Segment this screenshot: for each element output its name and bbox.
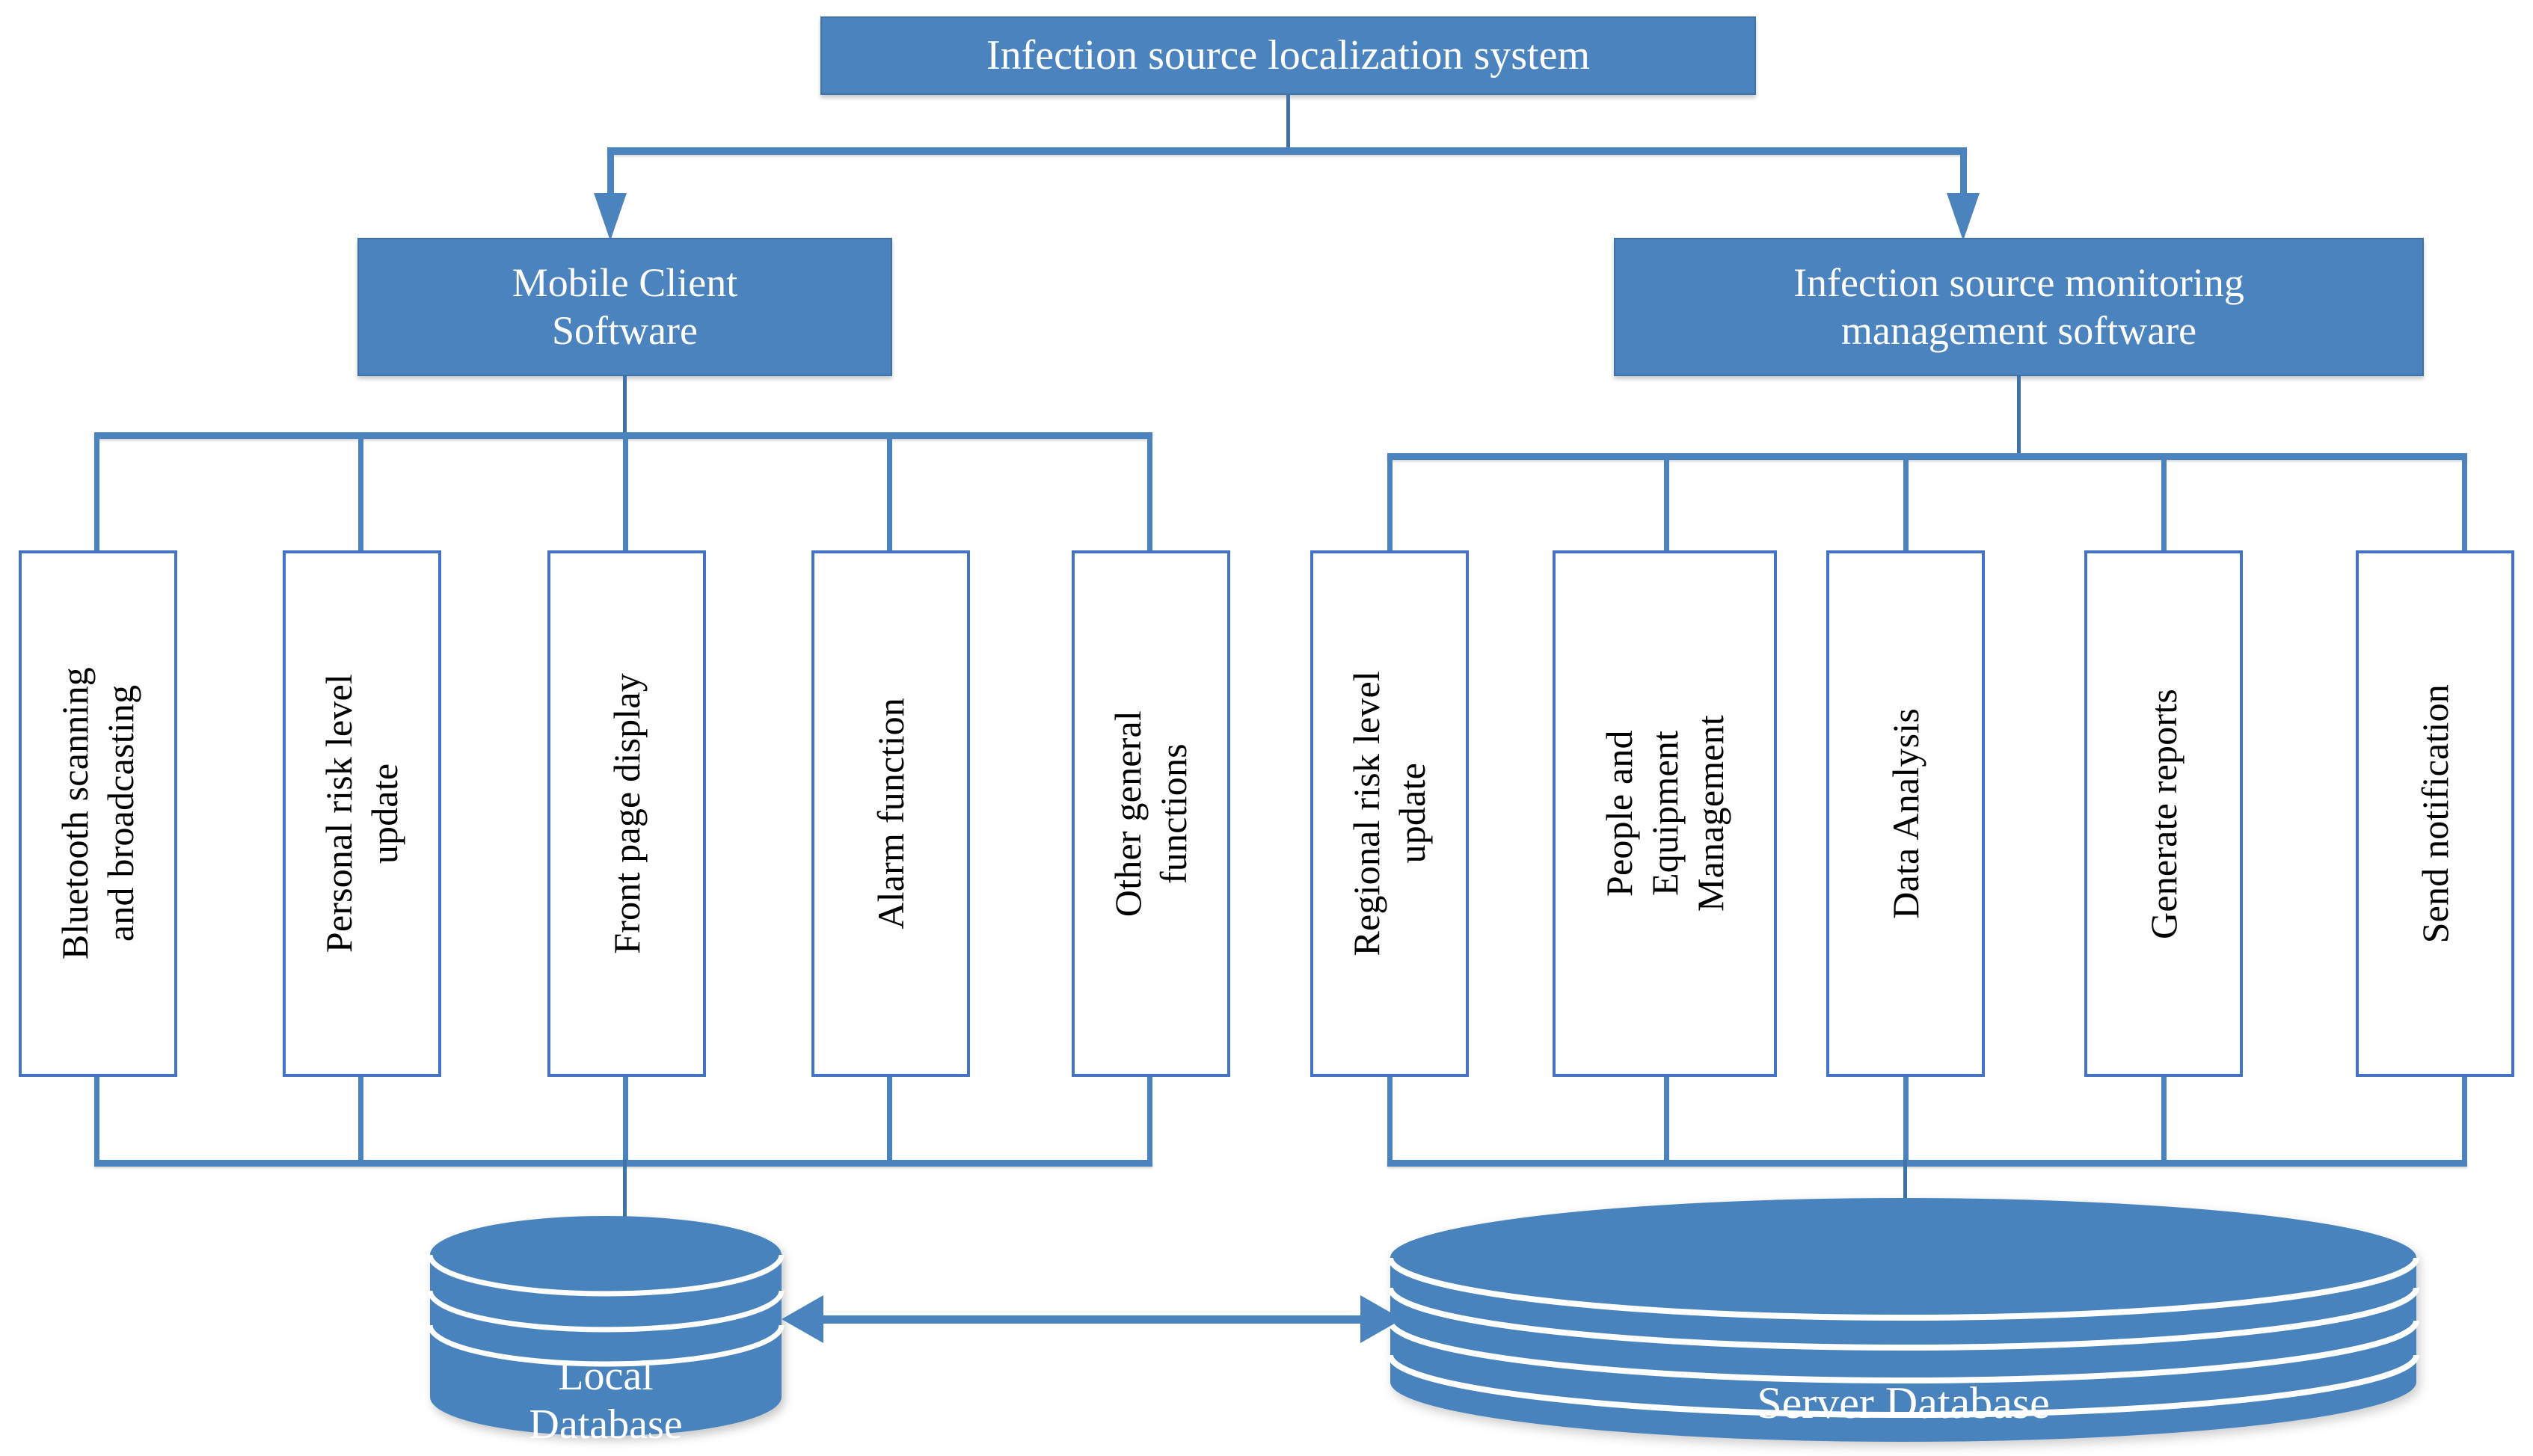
- connector-client-merge-up-2: [358, 1077, 363, 1165]
- node-mobile-client-software-label: Mobile Client Software: [503, 259, 746, 354]
- arrow-down-icon-to-monitoring-software: [1947, 193, 1980, 241]
- node-regional-risk-level-update-label: Regional risk level update: [1344, 671, 1435, 956]
- node-other-general-functions[interactable]: Other general functions: [1072, 550, 1230, 1077]
- node-mobile-client-software[interactable]: Mobile Client Software: [357, 238, 892, 376]
- connector-root-stem: [1286, 95, 1290, 151]
- arrow-head-right-icon: [1360, 1295, 1402, 1343]
- node-people-equipment-management[interactable]: People and Equipment Management: [1553, 550, 1777, 1077]
- connector-server-merge-up-5: [2462, 1077, 2467, 1165]
- node-generate-reports-label: Generate reports: [2141, 689, 2187, 939]
- connector-client-stem: [623, 376, 627, 437]
- node-data-analysis-label: Data Analysis: [1883, 708, 1929, 919]
- diagram-canvas: Infection source localization system Mob…: [0, 0, 2533, 1456]
- connector-server-stem: [2017, 376, 2021, 458]
- connector-client-drop-1: [94, 432, 99, 553]
- node-root-system-label: Infection source localization system: [977, 31, 1599, 80]
- double-arrow-horizontal-icon-db-sync: [782, 1295, 1402, 1343]
- node-send-notification-label: Send notification: [2413, 684, 2458, 943]
- connector-server-merge-up-4: [2161, 1077, 2167, 1165]
- connector-root-bar: [607, 147, 1967, 155]
- node-front-page-display[interactable]: Front page display: [547, 550, 706, 1077]
- cylinder-shape-local-database: [419, 1211, 793, 1436]
- connector-server-merge-up-2: [1664, 1077, 1669, 1165]
- connector-server-drop-5: [2462, 453, 2467, 553]
- connector-client-drop-3: [623, 432, 628, 553]
- connector-server-drop-4: [2161, 453, 2167, 553]
- connector-server-drop-2: [1664, 453, 1669, 553]
- connector-client-drop-2: [358, 432, 363, 553]
- node-alarm-function[interactable]: Alarm function: [811, 550, 970, 1077]
- node-personal-risk-level-update[interactable]: Personal risk level update: [283, 550, 441, 1077]
- node-monitoring-management-software[interactable]: Infection source monitoring management s…: [1614, 238, 2424, 376]
- arrow-shaft: [820, 1315, 1363, 1324]
- node-server-database[interactable]: Server Database: [1380, 1197, 2427, 1443]
- connector-client-drop-5: [1147, 432, 1152, 553]
- node-people-equipment-management-label: People and Equipment Management: [1597, 715, 1734, 912]
- node-monitoring-management-software-label: Infection source monitoring management s…: [1784, 259, 2253, 354]
- connector-server-drop-3: [1903, 453, 1909, 553]
- connector-server-drop-1: [1387, 453, 1393, 553]
- node-bluetooth-scanning-broadcasting[interactable]: Bluetooth scanning and broadcasting: [19, 550, 177, 1077]
- connector-client-merge-up-4: [887, 1077, 892, 1165]
- node-alarm-function-label: Alarm function: [868, 698, 914, 930]
- connector-server-merge-bus: [1387, 1160, 2467, 1167]
- connector-server-merge-up-3: [1903, 1077, 1909, 1165]
- node-regional-risk-level-update[interactable]: Regional risk level update: [1310, 550, 1469, 1077]
- node-front-page-display-label: Front page display: [604, 673, 650, 954]
- connector-server-merge-up-1: [1387, 1077, 1393, 1165]
- connector-server-bus: [1387, 453, 2467, 460]
- node-send-notification[interactable]: Send notification: [2356, 550, 2514, 1077]
- node-root-system[interactable]: Infection source localization system: [820, 16, 1756, 95]
- node-bluetooth-scanning-broadcasting-label: Bluetooth scanning and broadcasting: [52, 667, 144, 959]
- connector-client-merge-up-5: [1147, 1077, 1152, 1165]
- node-personal-risk-level-update-label: Personal risk level update: [316, 674, 408, 953]
- cylinder-shape-server-database: [1380, 1197, 2427, 1443]
- node-generate-reports[interactable]: Generate reports: [2084, 550, 2243, 1077]
- connector-client-merge-up-3: [623, 1077, 628, 1165]
- node-other-general-functions-label: Other general functions: [1105, 710, 1197, 917]
- arrow-down-icon-to-mobile-client: [594, 193, 627, 241]
- connector-client-drop-4: [887, 432, 892, 553]
- arrow-head-left-icon: [782, 1295, 823, 1343]
- node-local-database[interactable]: Local Database: [419, 1211, 793, 1436]
- node-data-analysis[interactable]: Data Analysis: [1826, 550, 1985, 1077]
- connector-client-merge-up-1: [94, 1077, 99, 1165]
